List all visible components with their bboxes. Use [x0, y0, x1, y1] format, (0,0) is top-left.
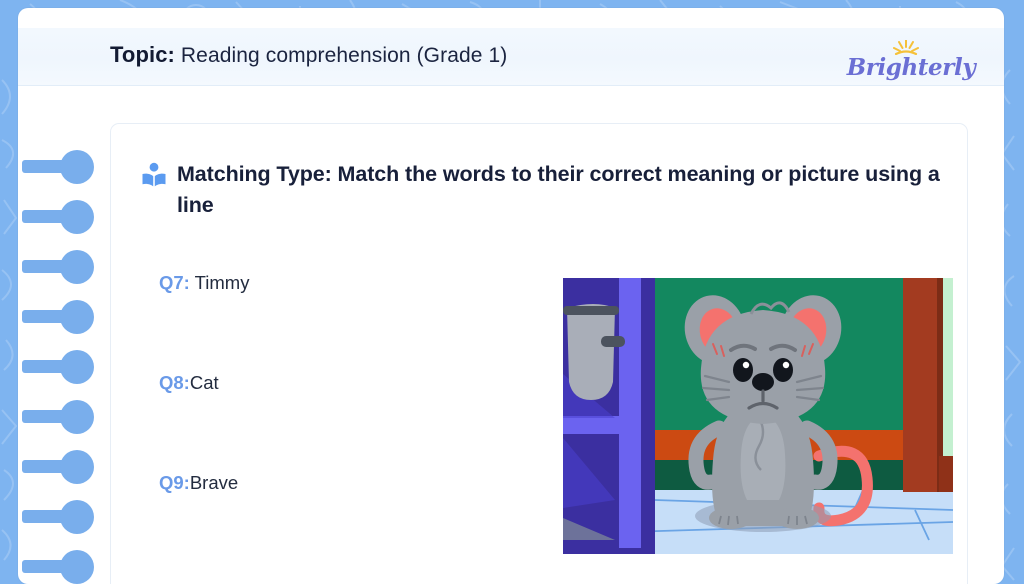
header-band: Topic: Reading comprehension (Grade 1) B…: [18, 28, 1004, 86]
spiral-ring: [60, 250, 94, 284]
topic-value: Reading comprehension (Grade 1): [175, 44, 507, 67]
brand-wordmark: Brighterly: [846, 54, 976, 81]
brighterly-logo[interactable]: Brighterly: [846, 40, 976, 82]
mouse-scene-svg: [563, 278, 953, 554]
spiral-ring: [60, 400, 94, 434]
question-word: Brave: [190, 472, 238, 493]
question-word: Cat: [190, 372, 219, 393]
exercise-card: Matching Type: Match the words to their …: [110, 123, 968, 584]
question-item[interactable]: Q7: Timmy: [159, 272, 489, 372]
question-item[interactable]: Q8:Cat: [159, 372, 489, 472]
question-tag: Q9:: [159, 472, 190, 493]
spiral-ring: [60, 200, 94, 234]
mouse-illustration[interactable]: [563, 278, 953, 554]
question-item[interactable]: Q9:Brave: [159, 472, 489, 572]
instruction-text: Matching Type: Match the words to their …: [177, 159, 941, 221]
reader-icon: [141, 162, 167, 188]
topic-label: Topic:: [110, 42, 175, 67]
spiral-ring: [60, 150, 94, 184]
question-tag: Q8:: [159, 372, 190, 393]
question-word: Timmy: [190, 272, 250, 293]
spiral-binding: [18, 86, 110, 584]
instruction-row: Matching Type: Match the words to their …: [141, 159, 941, 221]
sun-burst-icon: [893, 40, 919, 55]
spiral-ring: [60, 350, 94, 384]
spiral-ring: [60, 300, 94, 334]
spiral-ring: [60, 500, 94, 534]
question-list: Q7: Timmy Q8:Cat Q9:Brave: [159, 272, 489, 572]
topic-line: Topic: Reading comprehension (Grade 1): [110, 42, 507, 68]
question-tag: Q7:: [159, 272, 190, 293]
spiral-ring: [60, 450, 94, 484]
worksheet-screen: Topic: Reading comprehension (Grade 1) B…: [0, 0, 1024, 584]
spiral-ring: [60, 550, 94, 584]
worksheet-page: Topic: Reading comprehension (Grade 1) B…: [18, 8, 1004, 584]
